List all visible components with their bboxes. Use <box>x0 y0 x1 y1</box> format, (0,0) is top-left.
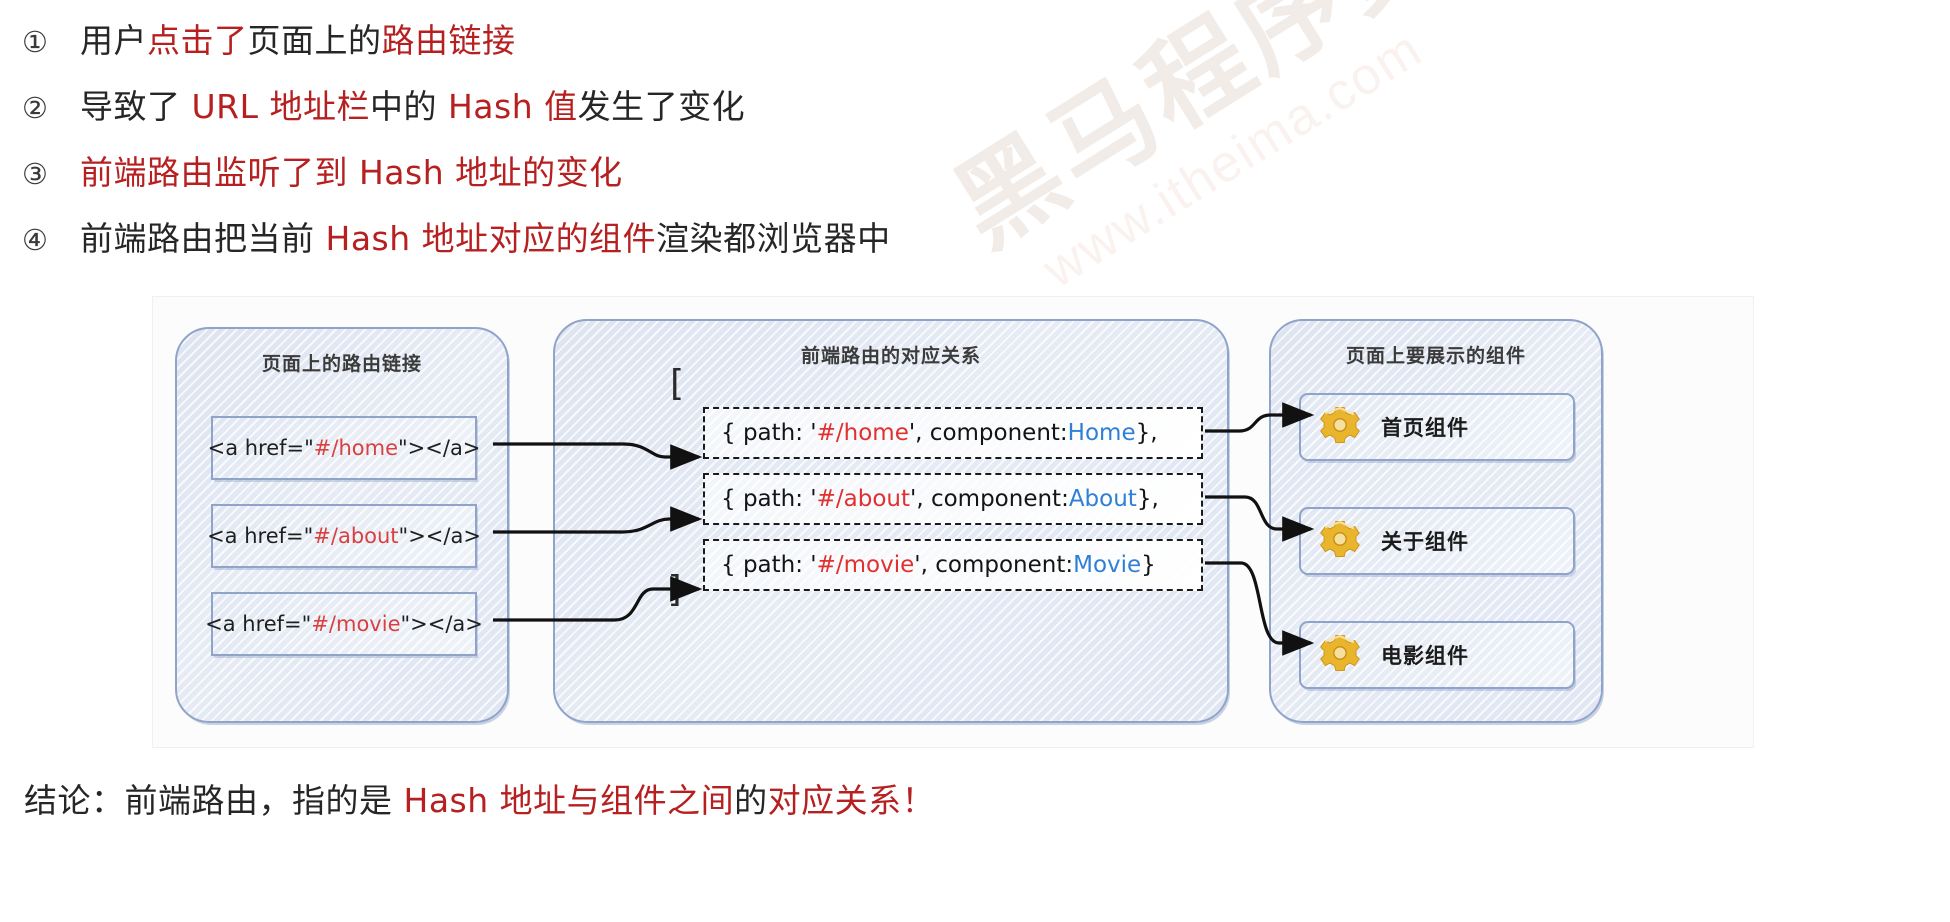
route-component: About <box>1069 486 1137 512</box>
gear-icon <box>1317 516 1363 567</box>
component-box-movie[interactable]: 电影组件 <box>1299 621 1575 689</box>
conclusion-segment: 的 <box>734 781 768 820</box>
route-close: }, <box>1137 486 1159 512</box>
route-open: { path: ' <box>721 486 817 512</box>
step-text-segment: URL 地址栏 <box>192 87 370 126</box>
step-text-segment: 页面上的 <box>248 21 382 60</box>
route-close: } <box>1141 552 1156 578</box>
link-hash: #/about <box>313 524 398 548</box>
step-number: ④ <box>22 223 80 257</box>
link-code-suffix: "></a> <box>398 436 480 460</box>
component-label: 关于组件 <box>1381 526 1469 556</box>
conclusion-segment: 结论：前端路由，指的是 <box>24 781 404 820</box>
route-close: }, <box>1136 420 1158 446</box>
router-diagram: 页面上的路由链接 <a href="#/home"></a> <a href="… <box>152 296 1754 748</box>
route-link-movie[interactable]: <a href="#/movie"></a> <box>211 592 477 656</box>
component-label: 首页组件 <box>1381 412 1469 442</box>
link-hash: #/home <box>314 436 398 460</box>
route-entry-about[interactable]: { path: '#/about', component: About }, <box>703 473 1203 525</box>
route-open: { path: ' <box>721 420 817 446</box>
step-number: ③ <box>22 157 80 191</box>
step-text-segment: 用户 <box>80 21 147 60</box>
link-code-prefix: <a href=" <box>207 524 313 548</box>
panel-route-links: 页面上的路由链接 <a href="#/home"></a> <a href="… <box>175 327 509 723</box>
route-path: #/home <box>817 420 909 446</box>
route-mid: ', component: <box>914 552 1073 578</box>
step-text-segment: Hash 值 <box>448 87 578 126</box>
step-number: ① <box>22 25 80 59</box>
link-code-suffix: "></a> <box>399 524 481 548</box>
route-entry-movie[interactable]: { path: '#/movie', component: Movie } <box>703 539 1203 591</box>
step-item: ③ 前端路由监听了到 Hash 地址的变化 <box>22 146 1950 212</box>
route-path: #/movie <box>817 552 915 578</box>
route-component: Home <box>1068 420 1136 446</box>
step-text-segment: 发生了变化 <box>578 87 746 126</box>
component-label: 电影组件 <box>1381 640 1469 670</box>
route-mid: ', component: <box>909 420 1068 446</box>
panel-route-table: 前端路由的对应关系 [ ] { path: '#/home', componen… <box>553 319 1229 723</box>
conclusion-line: 结论：前端路由，指的是 Hash 地址与组件之间的对应关系！ <box>24 774 1950 822</box>
step-text: 导致了 URL 地址栏中的 Hash 值发生了变化 <box>80 80 745 128</box>
step-item: ① 用户点击了页面上的路由链接 <box>22 14 1950 80</box>
link-code-prefix: <a href=" <box>208 436 314 460</box>
route-entry-home[interactable]: { path: '#/home', component: Home }, <box>703 407 1203 459</box>
array-close-bracket: ] <box>665 569 687 610</box>
step-text-segment: 导致了 <box>80 87 192 126</box>
step-text-segment: 路由链接 <box>382 21 516 60</box>
panel-middle-title: 前端路由的对应关系 <box>555 341 1227 368</box>
step-item: ④ 前端路由把当前 Hash 地址对应的组件渲染都浏览器中 <box>22 212 1950 278</box>
step-text-segment: 前端路由把当前 <box>80 219 326 258</box>
step-text: 前端路由把当前 Hash 地址对应的组件渲染都浏览器中 <box>80 212 891 260</box>
array-open-bracket: [ <box>665 363 687 404</box>
route-mid: ', component: <box>910 486 1069 512</box>
steps-list: ① 用户点击了页面上的路由链接 ② 导致了 URL 地址栏中的 Hash 值发生… <box>0 0 1950 278</box>
step-number: ② <box>22 91 80 125</box>
route-link-about[interactable]: <a href="#/about"></a> <box>211 504 477 568</box>
step-text-segment: Hash 地址对应的组件 <box>326 219 657 258</box>
panel-right-title: 页面上要展示的组件 <box>1271 341 1601 368</box>
gear-icon <box>1317 402 1363 453</box>
step-text: 前端路由监听了到 Hash 地址的变化 <box>80 146 623 194</box>
step-text: 用户点击了页面上的路由链接 <box>80 14 516 62</box>
step-text-segment: 点击了 <box>147 21 248 60</box>
conclusion-segment: 对应关系！ <box>768 781 936 820</box>
link-hash: #/movie <box>311 612 400 636</box>
step-text-segment: 渲染都浏览器中 <box>656 219 891 258</box>
component-box-home[interactable]: 首页组件 <box>1299 393 1575 461</box>
route-path: #/about <box>817 486 910 512</box>
panel-left-title: 页面上的路由链接 <box>177 349 507 376</box>
route-link-home[interactable]: <a href="#/home"></a> <box>211 416 477 480</box>
step-item: ② 导致了 URL 地址栏中的 Hash 值发生了变化 <box>22 80 1950 146</box>
route-component: Movie <box>1073 552 1141 578</box>
gear-icon <box>1317 630 1363 681</box>
step-text-segment: 前端路由监听了到 Hash 地址的变化 <box>80 153 623 192</box>
component-box-about[interactable]: 关于组件 <box>1299 507 1575 575</box>
step-text-segment: 中的 <box>370 87 448 126</box>
link-code-suffix: "></a> <box>401 612 483 636</box>
link-code-prefix: <a href=" <box>205 612 311 636</box>
route-open: { path: ' <box>721 552 817 578</box>
panel-components: 页面上要展示的组件 首页组件 <box>1269 319 1603 723</box>
conclusion-segment: Hash 地址与组件之间 <box>404 781 735 820</box>
